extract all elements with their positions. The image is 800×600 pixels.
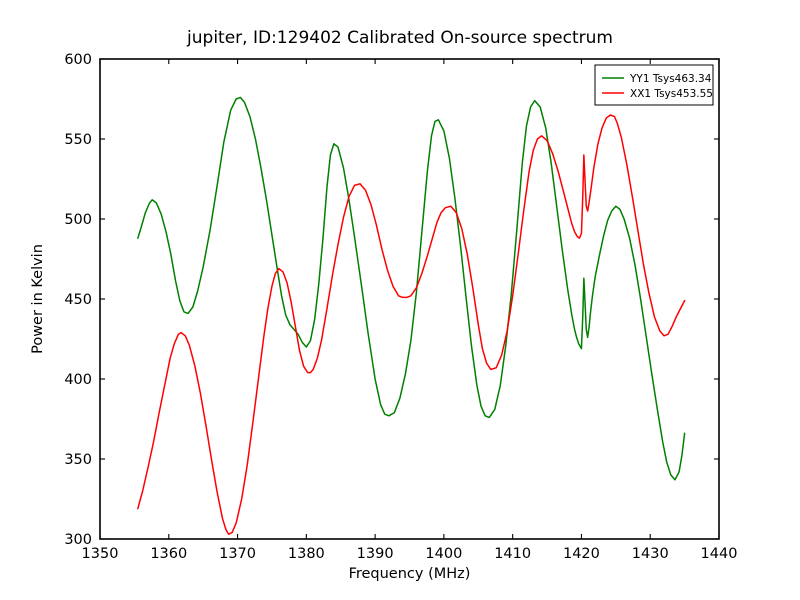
x-tick-label: 1350	[82, 546, 119, 562]
chart-axes: 1350136013701380139014001410142014301440…	[0, 0, 800, 600]
y-tick-label: 300	[64, 532, 92, 548]
axes-frame	[100, 59, 719, 539]
x-tick-label: 1400	[425, 546, 462, 562]
y-tick-label: 350	[64, 452, 92, 468]
axis-labels-group: 1350136013701380139014001410142014301440…	[30, 52, 737, 582]
y-tick-label: 450	[64, 292, 92, 308]
series-line-0	[138, 97, 685, 479]
y-tick-label: 400	[64, 372, 92, 388]
x-tick-label: 1360	[150, 546, 187, 562]
series-line-1	[138, 115, 685, 534]
y-tick-label: 600	[64, 52, 92, 68]
y-axis-title: Power in Kelvin	[30, 244, 46, 354]
x-tick-label: 1390	[357, 546, 394, 562]
legend-label-0: YY1 Tsys463.34	[629, 73, 712, 85]
y-tick-label: 500	[64, 212, 92, 228]
x-tick-label: 1430	[632, 546, 669, 562]
y-tick-label: 550	[64, 132, 92, 148]
series-group	[138, 97, 685, 534]
legend-label-1: XX1 Tsys453.55	[630, 88, 713, 100]
x-tick-label: 1420	[563, 546, 600, 562]
chart-legend[interactable]: YY1 Tsys463.34XX1 Tsys453.55	[595, 65, 713, 105]
figure-canvas: jupiter, ID:129402 Calibrated On-source …	[0, 0, 800, 600]
tick-marks-group	[100, 59, 719, 539]
x-tick-label: 1410	[494, 546, 531, 562]
x-axis-title: Frequency (MHz)	[349, 566, 471, 582]
x-tick-label: 1370	[219, 546, 256, 562]
x-tick-label: 1380	[288, 546, 325, 562]
x-tick-label: 1440	[701, 546, 738, 562]
